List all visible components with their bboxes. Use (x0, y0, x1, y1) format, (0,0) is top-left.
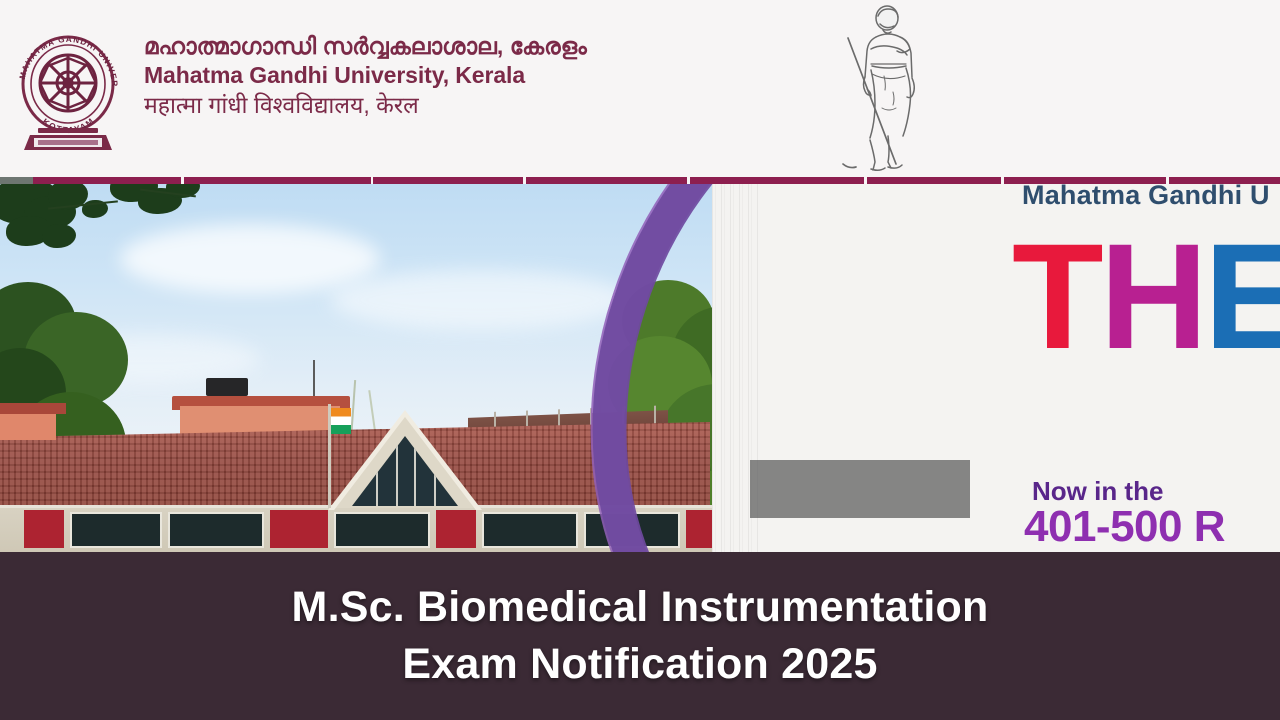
title-malayalam: മഹാത്മാഗാന്ധി സർവ്വകലാശാല, കേരളം (144, 32, 587, 60)
nav-item-2[interactable] (373, 177, 523, 184)
page-root: MAHATMA GANDHI UNIVERSITY KOTTAYAM (0, 0, 1280, 720)
brand-text: മഹാത്മാഗാന്ധി സർവ്വകലാശാല, കേരളം Mahatma… (144, 26, 587, 119)
site-header: MAHATMA GANDHI UNIVERSITY KOTTAYAM (0, 0, 1280, 177)
foreground-tree-top (0, 184, 240, 288)
hero-banner: Mahatma Gandhi U T H E W UN RA Now in th… (0, 184, 1280, 552)
rooftop-antenna (313, 360, 315, 396)
gandhi-walking-figure-icon (826, 4, 946, 172)
gray-overlay-block (750, 460, 970, 518)
the-letter-e: E (1204, 232, 1280, 361)
notification-title-band: M.Sc. Biomedical Instrumentation Exam No… (0, 552, 1280, 720)
nav-item-7[interactable] (1169, 177, 1280, 184)
title-hindi: महात्मा गांधी विश्वविद्यालय, केरल (144, 91, 587, 119)
brand-block[interactable]: MAHATMA GANDHI UNIVERSITY KOTTAYAM (8, 26, 587, 156)
title-line-1: M.Sc. Biomedical Instrumentation (292, 579, 989, 636)
primary-nav-strip[interactable] (0, 177, 1280, 184)
rank-range-label: 401-500 R (1024, 502, 1225, 552)
nav-item-5[interactable] (867, 177, 1001, 184)
nav-item-3[interactable] (526, 177, 687, 184)
nav-item-0[interactable] (0, 177, 33, 184)
ranking-heading: Mahatma Gandhi U (1022, 184, 1270, 211)
title-line-2: Exam Notification 2025 (402, 636, 877, 693)
nav-item-1[interactable] (184, 177, 370, 184)
the-letter-h: H (1100, 232, 1204, 361)
the-rankings-logo: T H E W UN RA (1012, 232, 1280, 384)
nav-item-0b[interactable] (33, 177, 182, 184)
water-tank (206, 378, 248, 396)
mg-university-crest-icon: MAHATMA GANDHI UNIVERSITY KOTTAYAM (8, 26, 128, 156)
nav-item-4[interactable] (690, 177, 864, 184)
nav-item-6[interactable] (1004, 177, 1166, 184)
indian-flag-icon (331, 408, 351, 434)
title-english: Mahatma Gandhi University, Kerala (144, 61, 587, 89)
the-letter-t: T (1012, 232, 1100, 361)
